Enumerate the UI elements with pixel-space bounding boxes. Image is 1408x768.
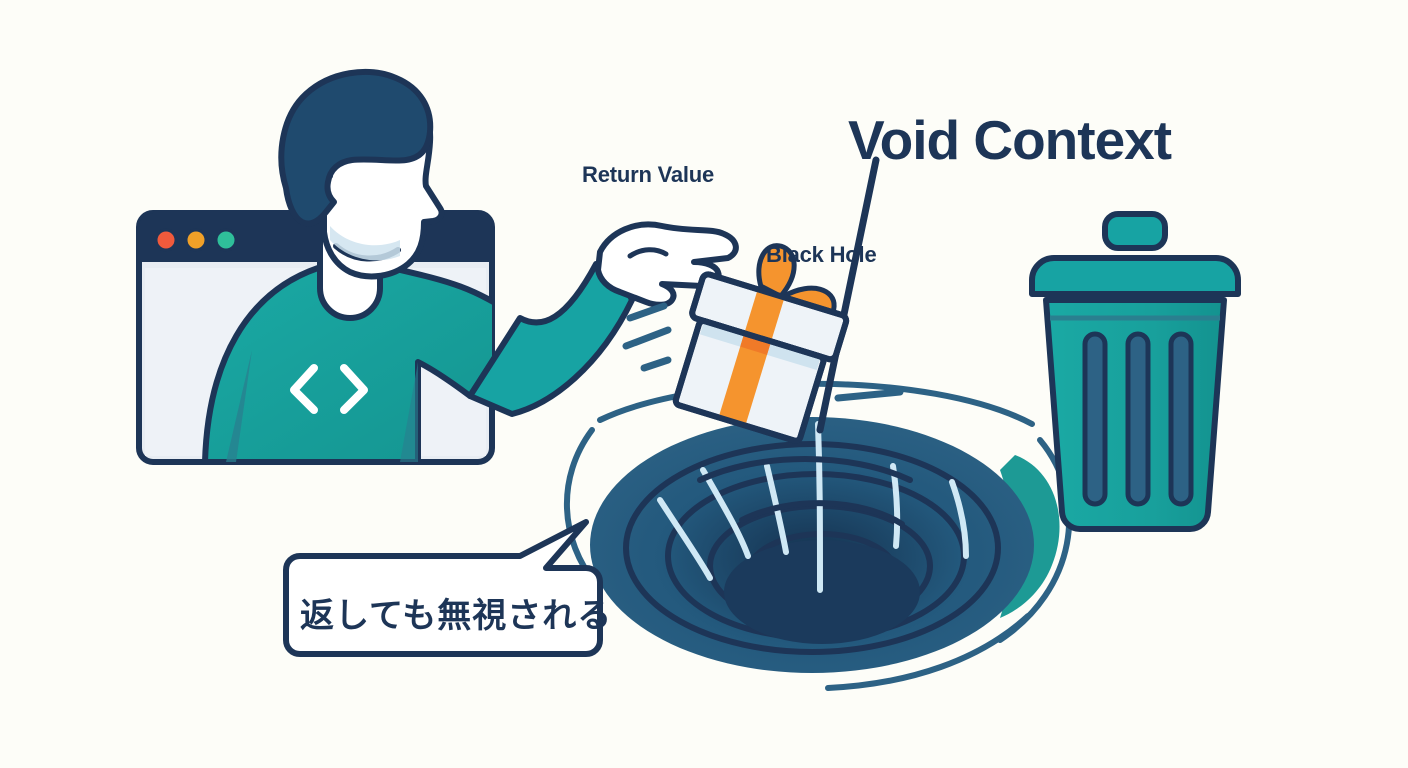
orbital-arc-left (567, 430, 596, 584)
trash-can-rib-1 (1085, 334, 1105, 504)
label-black-hole: Black Hole (766, 242, 877, 268)
maximize-dot-icon[interactable] (216, 230, 236, 250)
light-streak-4 (818, 424, 820, 590)
trash-can-handle (1105, 214, 1165, 248)
label-return-value: Return Value (582, 162, 714, 188)
page-title: Void Context (848, 108, 1171, 172)
trash-can[interactable] (1032, 214, 1238, 529)
trash-can-rib-2 (1128, 334, 1148, 504)
speech-bubble-text: 返しても無視される (300, 588, 612, 637)
motion-line-1 (630, 306, 664, 318)
scene-vector-art (0, 0, 1408, 768)
minimize-dot-icon[interactable] (186, 230, 206, 250)
motion-line-2 (626, 330, 668, 346)
motion-line-3 (644, 360, 668, 368)
trash-can-lid (1032, 258, 1238, 294)
illustration-canvas: Void Context Return Value Black Hole 返して… (0, 0, 1408, 768)
motion-line-4 (838, 392, 900, 398)
trash-can-rib-3 (1171, 334, 1191, 504)
close-dot-icon[interactable] (156, 230, 176, 250)
